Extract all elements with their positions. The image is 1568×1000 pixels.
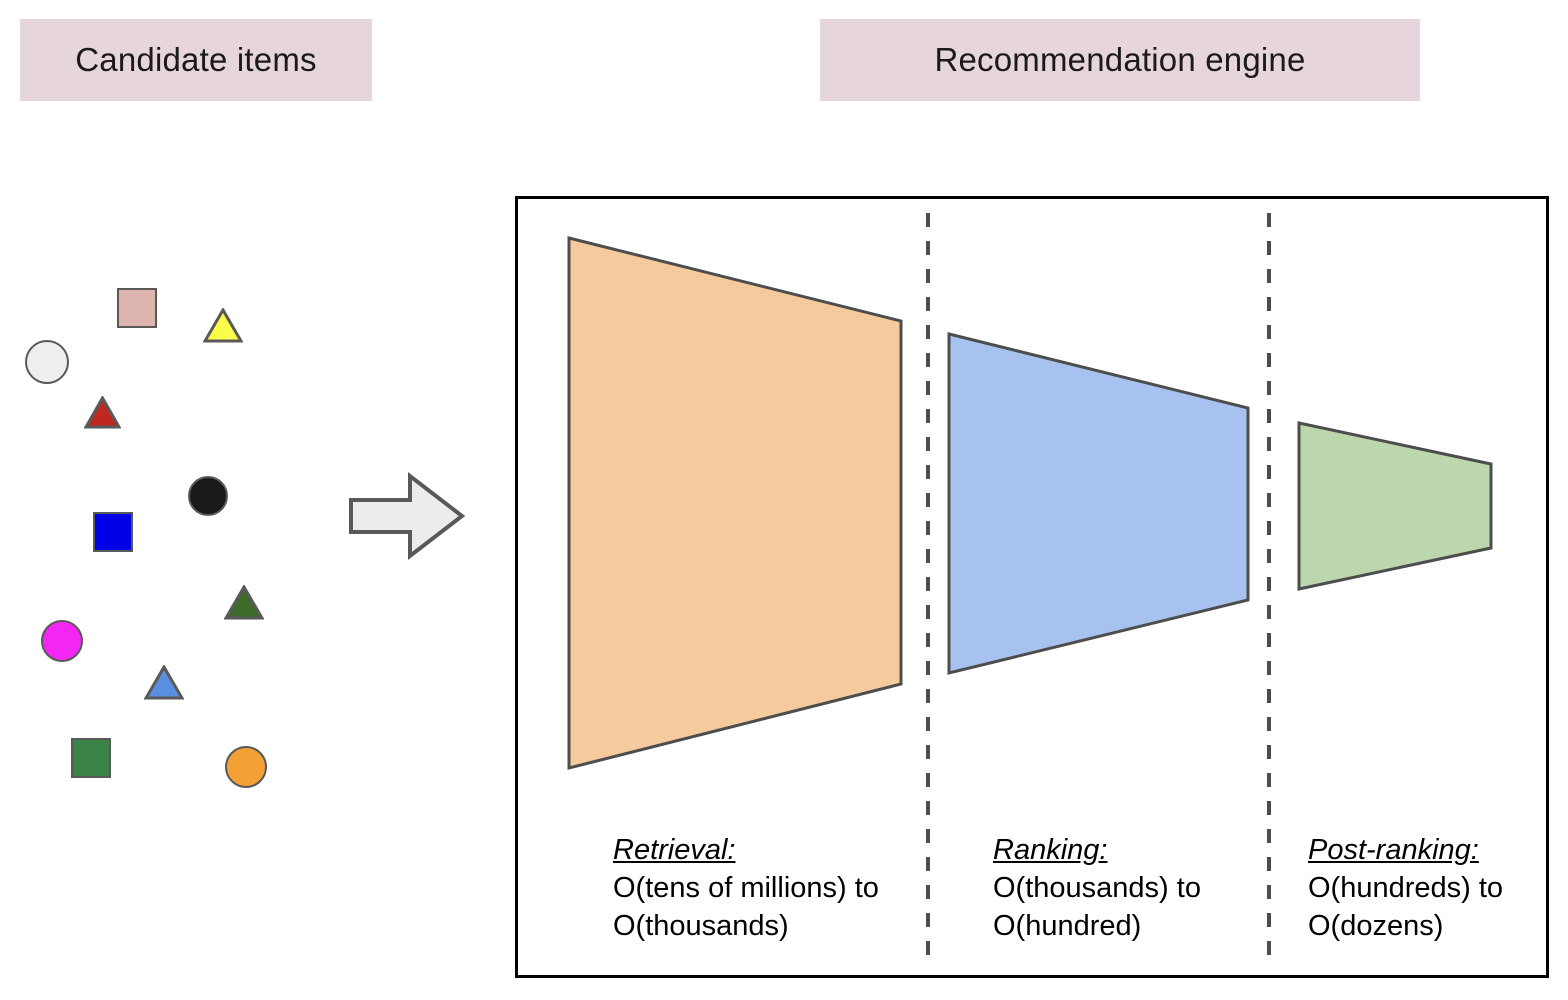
- candidate-item-lightblue-triangle: [144, 665, 184, 700]
- candidate-item-blue-square: [93, 512, 133, 552]
- recommendation-engine-panel: Retrieval: O(tens of millions) to O(thou…: [515, 196, 1549, 978]
- candidate-item-green-square: [71, 738, 111, 778]
- candidate-item-yellow-triangle: [203, 308, 243, 343]
- stage-line-ranking-1: O(thousands) to: [993, 869, 1201, 907]
- stage-title-retrieval: Retrieval:: [613, 831, 879, 869]
- candidate-item-orange-circle: [225, 746, 267, 788]
- stage-line-post-ranking-2: O(dozens): [1308, 907, 1503, 945]
- right-arrow-icon: [348, 470, 466, 562]
- stage-caption-retrieval: Retrieval: O(tens of millions) to O(thou…: [613, 831, 879, 945]
- funnel-stage-ranking: [949, 334, 1248, 673]
- funnel-stage-retrieval: [569, 238, 901, 768]
- stage-caption-post-ranking: Post-ranking: O(hundreds) to O(dozens): [1308, 831, 1503, 945]
- candidate-item-magenta-circle: [41, 620, 83, 662]
- candidate-item-white-circle: [25, 340, 69, 384]
- funnel-stage-post-ranking: [1299, 423, 1491, 589]
- candidate-item-darkgreen-triangle: [224, 585, 264, 620]
- stage-caption-ranking: Ranking: O(thousands) to O(hundred): [993, 831, 1201, 945]
- stage-line-retrieval-2: O(thousands): [613, 907, 879, 945]
- candidate-items-pool: [0, 260, 330, 800]
- stage-line-retrieval-1: O(tens of millions) to: [613, 869, 879, 907]
- candidate-items-header-label: Candidate items: [75, 41, 316, 79]
- stage-line-ranking-2: O(hundred): [993, 907, 1201, 945]
- candidate-items-header: Candidate items: [20, 19, 372, 101]
- candidate-item-black-circle: [188, 476, 228, 516]
- stage-title-post-ranking: Post-ranking:: [1308, 831, 1503, 869]
- recommendation-engine-header: Recommendation engine: [820, 19, 1420, 101]
- stage-title-ranking: Ranking:: [993, 831, 1201, 869]
- stage-line-post-ranking-1: O(hundreds) to: [1308, 869, 1503, 907]
- candidate-item-rosy-square: [117, 288, 157, 328]
- candidate-item-red-triangle: [84, 396, 121, 429]
- recommendation-engine-header-label: Recommendation engine: [934, 41, 1305, 79]
